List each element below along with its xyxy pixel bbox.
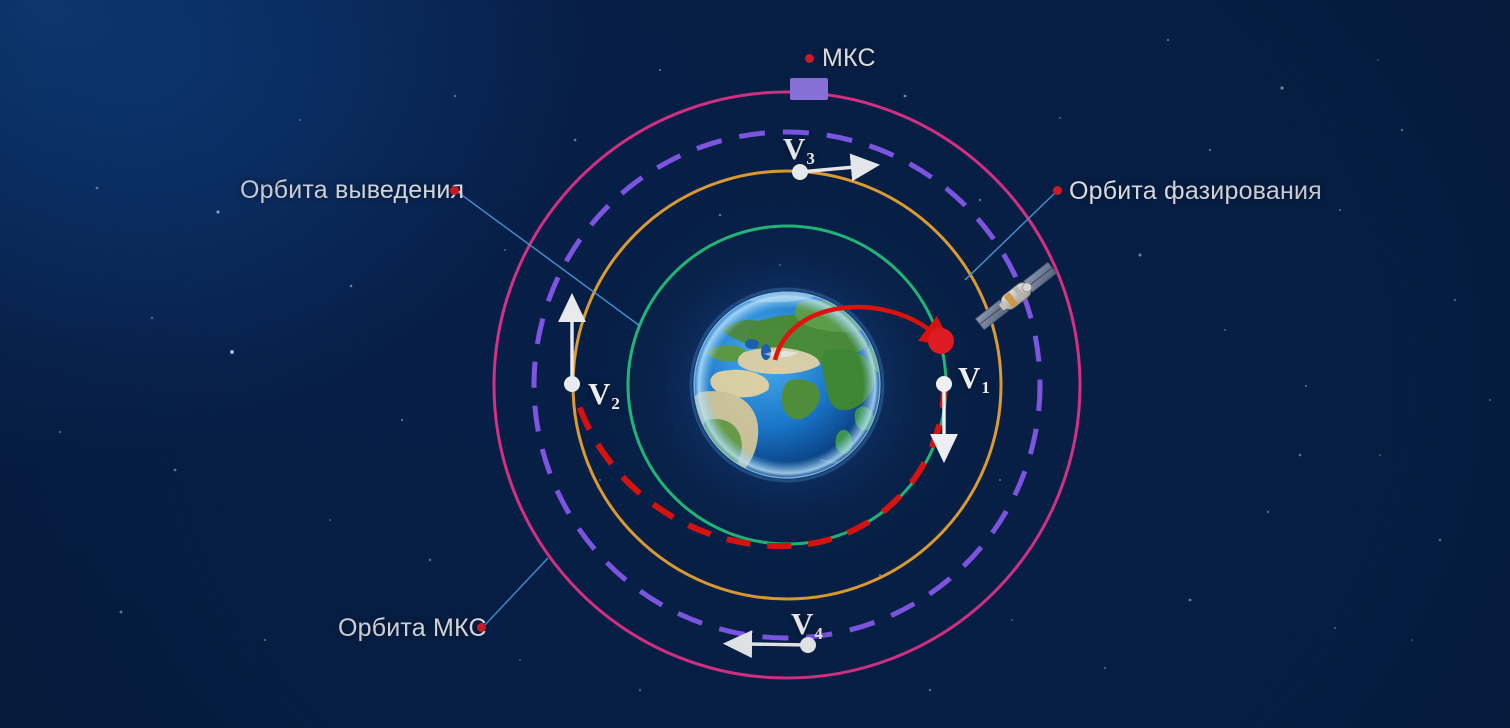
leader-line-launch-orbit: [455, 190, 640, 326]
starfield-layer: [0, 0, 1510, 728]
velocity-label-v1: V1: [958, 360, 989, 396]
velocity-label-v1-letter: V: [958, 360, 980, 395]
velocity-label-v2-index: 2: [611, 394, 620, 413]
velocity-label-v4-index: 4: [814, 624, 823, 643]
iss-orbit-label-dot: [477, 623, 486, 632]
velocity-label-v2: V2: [588, 376, 619, 412]
leader-line-iss-orbit: [484, 558, 548, 626]
insertion-point-dot: [928, 328, 954, 354]
velocity-label-v4-letter: V: [791, 606, 813, 641]
iss-label-dot: [805, 54, 814, 63]
phasing-orbit-label-dot: [1053, 186, 1062, 195]
velocity-label-v3-index: 3: [806, 149, 815, 168]
iss-label: МКС: [822, 44, 876, 73]
iss-module-marker: [790, 78, 828, 100]
orbital-diagram: МКС Орбита выведения Орбита фазирования …: [0, 0, 1510, 728]
velocity-label-v1-index: 1: [981, 378, 990, 397]
velocity-label-v3: V3: [783, 131, 814, 167]
iss-orbit-label: Орбита МКС: [338, 614, 487, 643]
velocity-label-v2-letter: V: [588, 376, 610, 411]
launch-orbit-label-dot: [450, 186, 459, 195]
launch-orbit-label: Орбита выведения: [240, 176, 464, 205]
velocity-label-v4: V4: [791, 606, 822, 642]
phasing-orbit-label: Орбита фазирования: [1069, 177, 1322, 206]
velocity-label-v3-letter: V: [783, 131, 805, 166]
velocity-arrow-v2: [564, 318, 580, 392]
